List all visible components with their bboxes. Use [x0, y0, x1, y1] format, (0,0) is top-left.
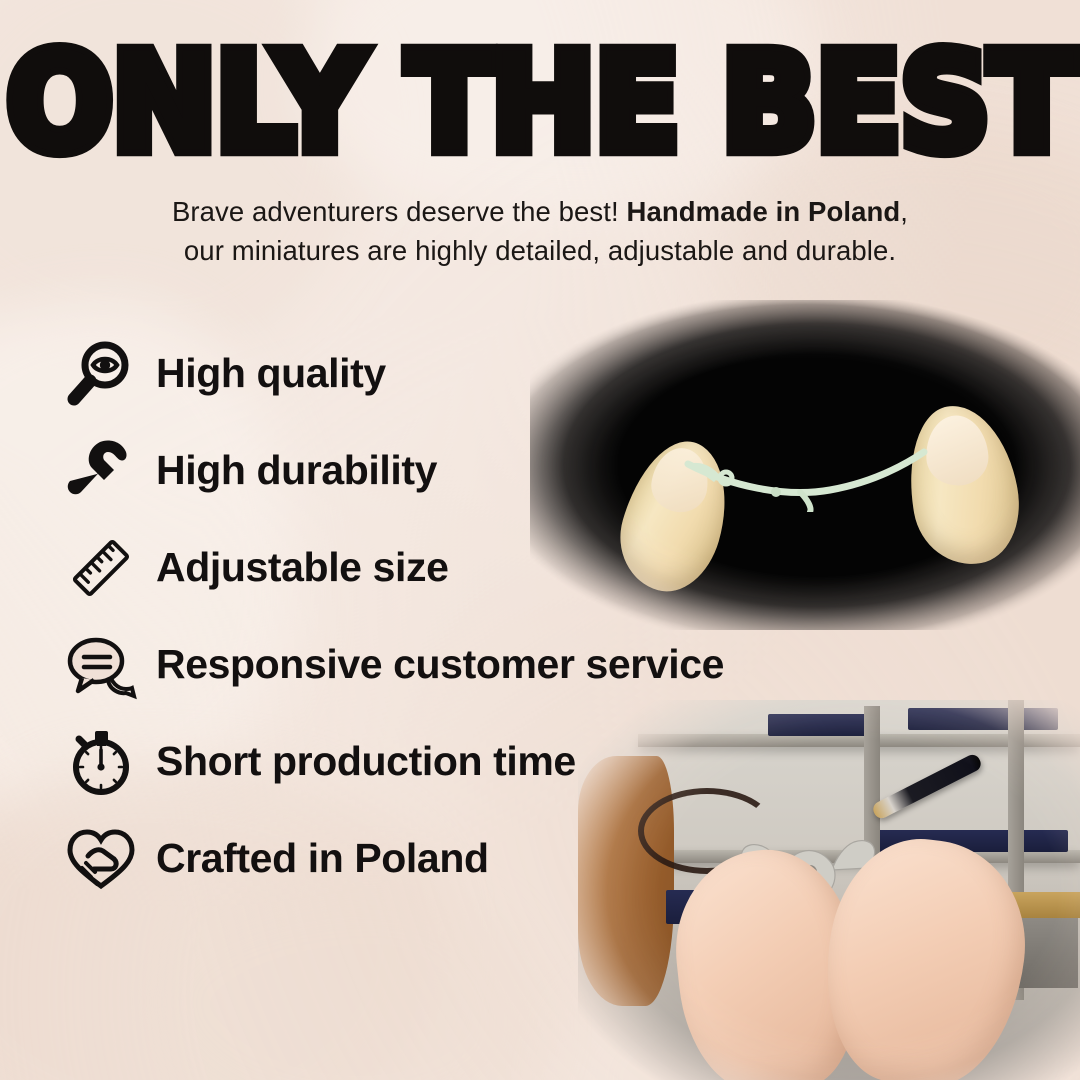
feature-label: Adjustable size	[156, 544, 448, 591]
subtitle-lead: Brave adventurers deserve the best!	[172, 196, 627, 227]
subtitle-emphasis: Handmade in Poland	[627, 196, 901, 227]
subtitle-line2: our miniatures are highly detailed, adju…	[184, 235, 896, 266]
feature-item-customer-service: Responsive customer service	[64, 616, 824, 713]
feature-label: Short production time	[156, 738, 576, 785]
feature-label: Responsive customer service	[156, 641, 724, 688]
feature-label: High quality	[156, 350, 386, 397]
subtitle: Brave adventurers deserve the best! Hand…	[60, 192, 1020, 270]
poster-canvas: ONLY THE BEST Brave adventurers deserve …	[0, 0, 1080, 1080]
feature-item-adjustable-size: Adjustable size	[64, 519, 824, 616]
speech-bubbles-icon	[64, 628, 138, 702]
subtitle-tail: ,	[900, 196, 908, 227]
page-title: ONLY THE BEST	[0, 38, 1080, 170]
stopwatch-icon	[64, 725, 138, 799]
handshake-heart-icon	[64, 822, 138, 896]
background-wash	[140, 880, 540, 1080]
feature-item-high-durability: High durability	[64, 422, 824, 519]
feature-item-crafted-in-poland: Crafted in Poland	[64, 810, 824, 907]
feature-label: High durability	[156, 447, 437, 494]
feature-label: Crafted in Poland	[156, 835, 489, 882]
ruler-icon	[64, 531, 138, 605]
feature-list: High quality High durability	[64, 325, 824, 907]
hammer-icon	[64, 434, 138, 508]
feature-item-production-time: Short production time	[64, 713, 824, 810]
magnifier-eye-icon	[64, 337, 138, 411]
feature-item-high-quality: High quality	[64, 325, 824, 422]
